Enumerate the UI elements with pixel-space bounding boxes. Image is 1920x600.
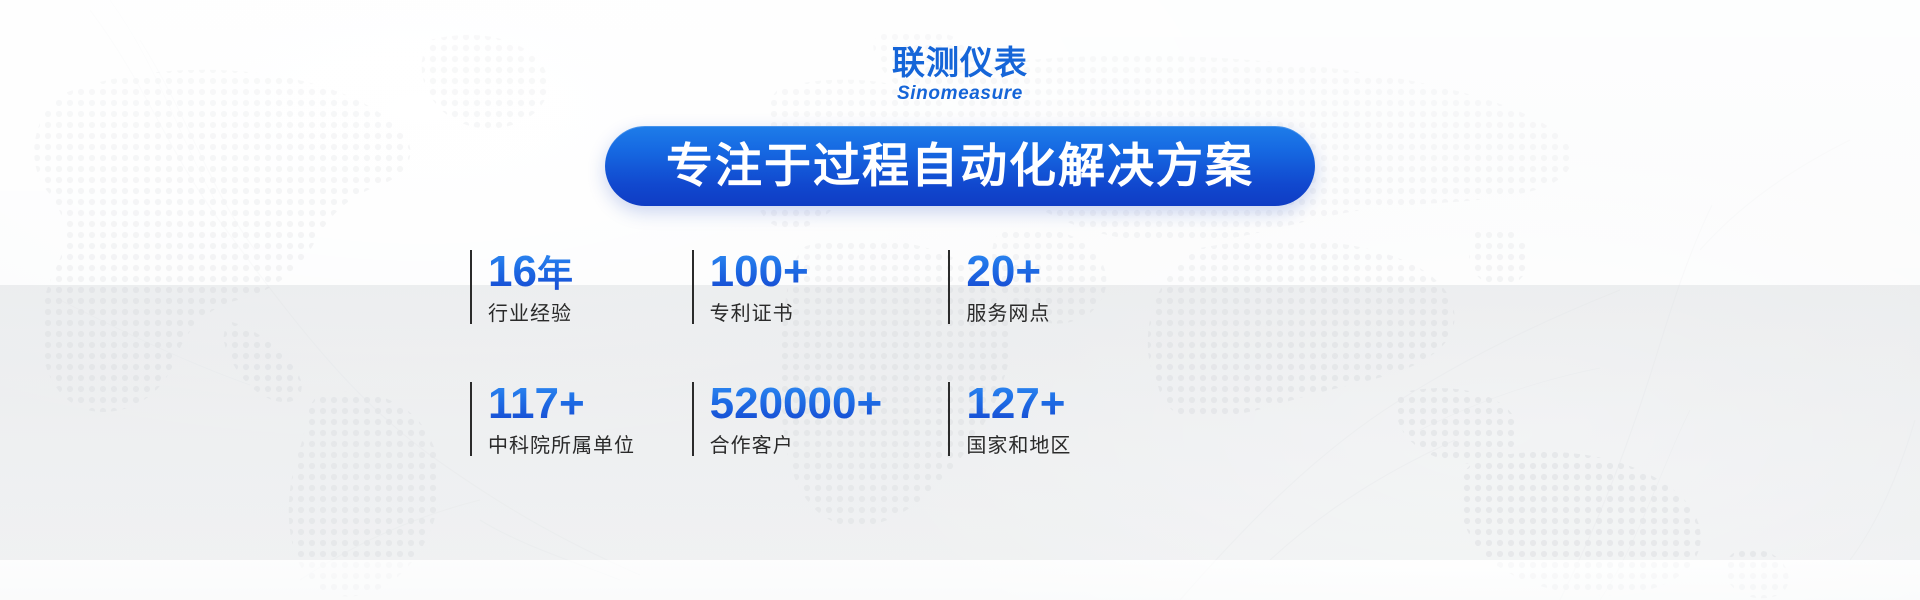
stat-number: 16	[488, 247, 537, 296]
stat-item: 100+ 专利证书	[692, 250, 949, 324]
stat-value: 127+	[966, 382, 1071, 427]
stat-value: 117+	[488, 382, 635, 427]
brand-logo: 联测仪表 Sinomeasure	[0, 46, 1920, 103]
stat-unit: 年	[537, 254, 573, 295]
headline-text: 专注于过程自动化解决方案	[666, 143, 1254, 190]
stat-value: 520000+	[710, 382, 883, 427]
stat-label: 行业经验	[488, 302, 573, 324]
logo-chinese-name: 联测仪表	[0, 46, 1920, 79]
stat-rule	[692, 250, 694, 324]
stat-number: 100+	[710, 247, 809, 296]
stat-item: 20+ 服务网点	[948, 250, 1170, 324]
stat-number: 20+	[966, 247, 1041, 296]
promo-banner: 联测仪表 Sinomeasure 专注于过程自动化解决方案 16年 行业经验	[0, 0, 1920, 600]
stat-rule	[948, 382, 950, 456]
stat-rule	[948, 250, 950, 324]
stat-item: 127+ 国家和地区	[948, 382, 1170, 456]
stat-label: 专利证书	[710, 302, 809, 324]
stat-item: 16年 行业经验	[470, 250, 692, 324]
stat-value: 100+	[710, 250, 809, 295]
stat-number: 520000+	[710, 379, 883, 428]
stat-rule	[692, 382, 694, 456]
stat-item: 520000+ 合作客户	[692, 382, 949, 456]
stat-label: 中科院所属单位	[488, 434, 635, 456]
stats-grid: 16年 行业经验 100+ 专利证书 20+ 服务网点	[470, 250, 1170, 456]
stat-number: 117+	[488, 379, 585, 428]
stat-item: 117+ 中科院所属单位	[470, 382, 692, 456]
stat-label: 合作客户	[710, 434, 883, 456]
logo-english-name: Sinomeasure	[0, 84, 1920, 103]
stat-value: 20+	[966, 250, 1050, 295]
stat-label: 服务网点	[966, 302, 1050, 324]
banner-content: 联测仪表 Sinomeasure 专注于过程自动化解决方案 16年 行业经验	[0, 0, 1920, 600]
headline-pill-wrapper: 专注于过程自动化解决方案	[0, 126, 1920, 206]
stats-row-1: 16年 行业经验 100+ 专利证书 20+ 服务网点	[470, 250, 1170, 324]
stat-number: 127+	[966, 379, 1065, 428]
stat-label: 国家和地区	[966, 434, 1071, 456]
stat-rule	[470, 382, 472, 456]
stat-rule	[470, 250, 472, 324]
stat-value: 16年	[488, 250, 573, 295]
stats-row-2: 117+ 中科院所属单位 520000+ 合作客户 127+ 国家和地区	[470, 382, 1170, 456]
headline-pill: 专注于过程自动化解决方案	[605, 126, 1315, 206]
